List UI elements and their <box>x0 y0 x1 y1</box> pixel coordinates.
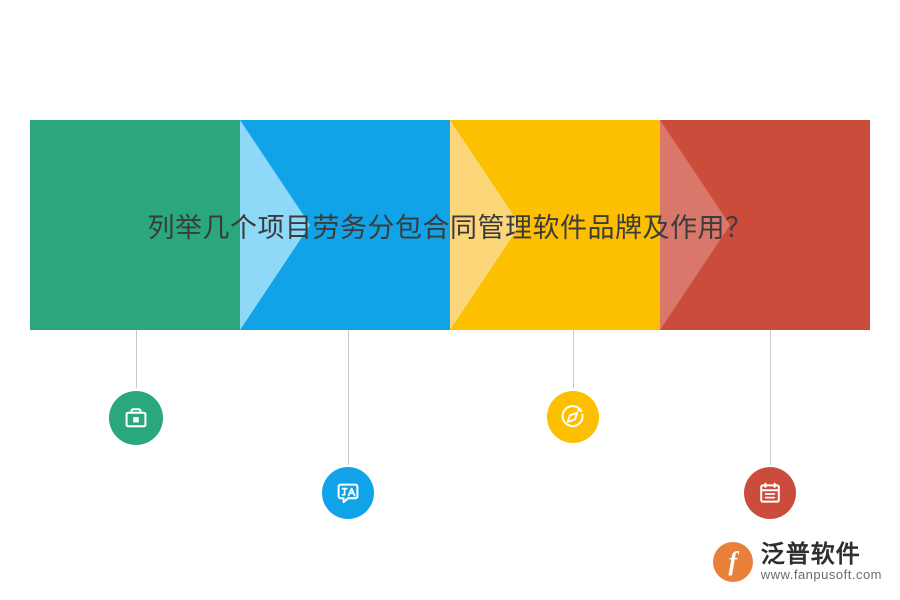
brand-logo[interactable]: f 泛普软件 www.fanpusoft.com <box>713 541 882 582</box>
logo-company-name: 泛普软件 <box>761 541 882 567</box>
node-4-circle[interactable] <box>744 467 796 519</box>
logo-website-url: www.fanpusoft.com <box>761 568 882 582</box>
calendar-icon <box>756 479 784 507</box>
connector-line-4 <box>770 330 771 465</box>
node-3-circle[interactable] <box>547 391 599 443</box>
node-1-circle[interactable] <box>109 391 163 445</box>
translate-chat-icon <box>334 479 362 507</box>
logo-text-block: 泛普软件 www.fanpusoft.com <box>761 541 882 582</box>
node-2-circle[interactable] <box>322 467 374 519</box>
connector-line-1 <box>136 330 137 388</box>
connector-line-3 <box>573 330 574 388</box>
logo-mark-icon: f <box>713 542 753 582</box>
briefcase-icon <box>122 404 150 432</box>
logo-mark-letter: f <box>728 549 737 575</box>
compass-icon <box>559 403 587 431</box>
banner-title: 列举几个项目劳务分包合同管理软件品牌及作用？ <box>30 120 870 330</box>
slide-canvas: 列举几个项目劳务分包合同管理软件品牌及作用？ <box>0 0 900 600</box>
connector-line-2 <box>348 330 349 465</box>
banner: 列举几个项目劳务分包合同管理软件品牌及作用？ <box>30 120 870 330</box>
